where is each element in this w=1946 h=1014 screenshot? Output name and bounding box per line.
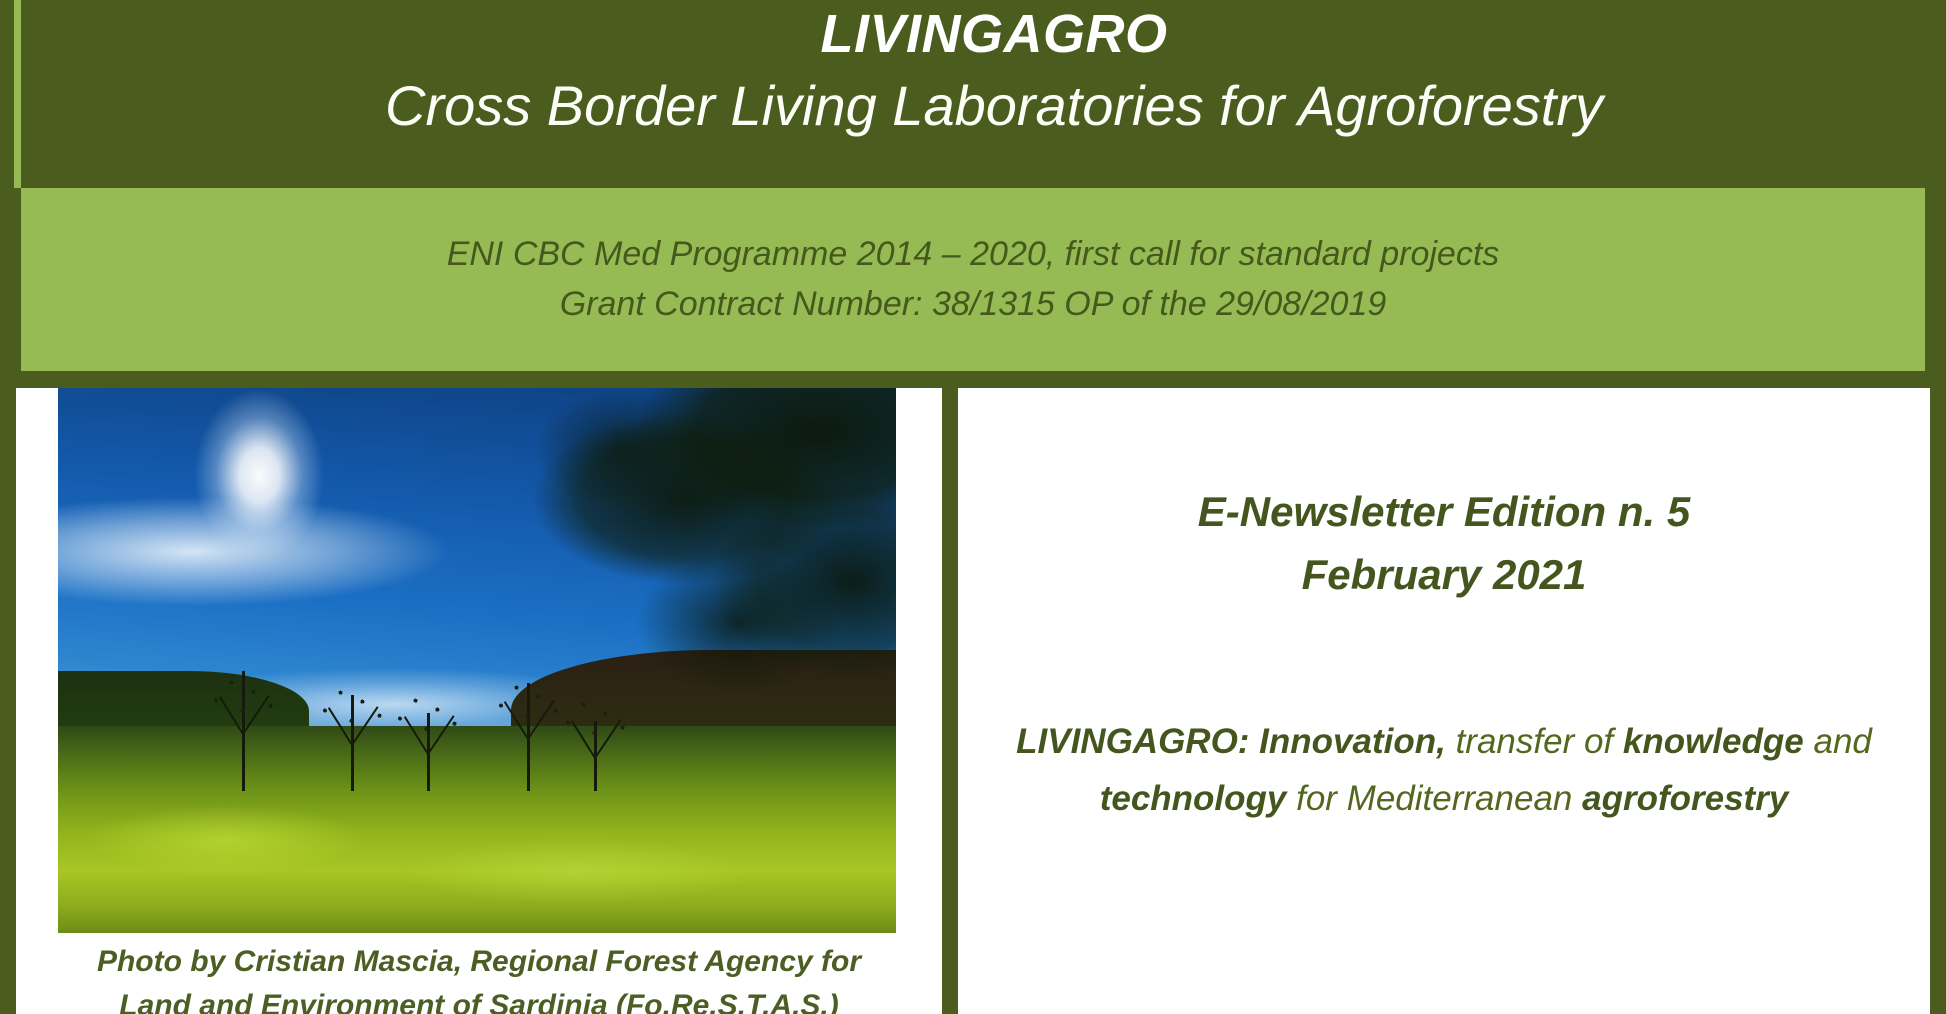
- photo-tree-crown: [314, 685, 392, 749]
- photo-caption-line-2: Land and Environment of Sardinia (Fo.Re.…: [40, 984, 918, 1014]
- tagline-part-4: and: [1804, 722, 1872, 761]
- photo-panel: Photo by Cristian Mascia, Regional Fores…: [16, 388, 942, 1014]
- tagline-part-1: LIVINGAGRO: Innovation,: [1016, 722, 1446, 761]
- photo-caption-line-1: Photo by Cristian Mascia, Regional Fores…: [40, 940, 918, 984]
- tagline-part-7: agroforestry: [1582, 779, 1788, 818]
- landscape-photo: [58, 388, 896, 933]
- photo-tree-crown: [557, 697, 635, 761]
- photo-tree-crown: [389, 693, 467, 757]
- tagline-part-2: transfer of: [1446, 722, 1623, 761]
- header-inner: LIVINGAGRO Cross Border Living Laborator…: [54, 0, 1934, 188]
- photo-caption: Photo by Cristian Mascia, Regional Fores…: [40, 940, 918, 1014]
- photo-tree: [527, 683, 530, 791]
- page-subtitle: Cross Border Living Laboratories for Agr…: [385, 77, 1603, 136]
- photo-tree: [351, 695, 354, 791]
- programme-line-2: Grant Contract Number: 38/1315 OP of the…: [560, 280, 1387, 329]
- header-accent-bar: [14, 0, 21, 188]
- programme-band: ENI CBC Med Programme 2014 – 2020, first…: [21, 188, 1925, 371]
- newsletter-page: LIVINGAGRO Cross Border Living Laborator…: [0, 0, 1946, 1014]
- tagline-part-3: knowledge: [1623, 722, 1804, 761]
- header-band: LIVINGAGRO Cross Border Living Laborator…: [14, 0, 1932, 188]
- programme-line-1: ENI CBC Med Programme 2014 – 2020, first…: [447, 230, 1500, 279]
- photo-tree: [242, 671, 245, 791]
- edition-panel: E-Newsletter Edition n. 5 February 2021 …: [958, 388, 1930, 1014]
- edition-date: February 2021: [1198, 543, 1690, 606]
- project-tagline: LIVINGAGRO: Innovation, transfer of know…: [988, 714, 1900, 827]
- content-panels: Photo by Cristian Mascia, Regional Fores…: [0, 371, 1946, 1014]
- edition-heading: E-Newsletter Edition n. 5 February 2021: [1198, 480, 1690, 606]
- photo-tree: [427, 713, 430, 791]
- edition-number: E-Newsletter Edition n. 5: [1198, 480, 1690, 543]
- photo-tree: [594, 721, 597, 791]
- photo-tree-crown: [205, 675, 283, 739]
- page-title: LIVINGAGRO: [820, 6, 1167, 63]
- tagline-part-5: technology: [1100, 779, 1287, 818]
- tagline-part-6: for Mediterranean: [1286, 779, 1582, 818]
